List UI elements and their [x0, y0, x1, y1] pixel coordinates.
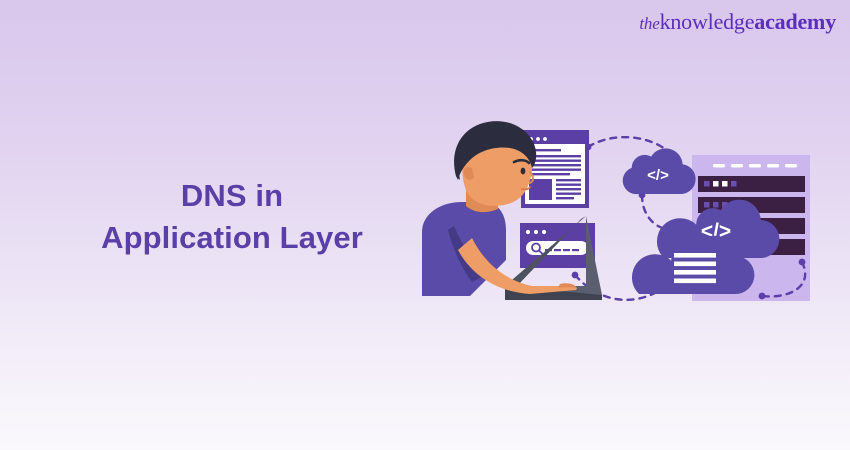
cloud-code-top: </> [623, 148, 696, 194]
page-title-line-2: Application Layer [52, 217, 412, 259]
search-window-dots [526, 230, 546, 234]
logo-text-knowledge: knowledge [660, 9, 755, 34]
cloud-code-glyph: </> [647, 167, 669, 184]
page-title-line-1: DNS in [52, 175, 412, 217]
server-slot [698, 176, 805, 192]
person-eye [521, 168, 526, 175]
page-title: DNS in Application Layer [52, 175, 412, 259]
banner-root: theknowledgeacademy DNS in Application L… [0, 0, 850, 450]
brand-logo: theknowledgeacademy [639, 9, 836, 35]
hero-illustration: </> </> [410, 110, 840, 340]
logo-text-the: the [639, 14, 659, 33]
logo-text-academy: academy [754, 9, 836, 34]
browser-window-search[interactable] [520, 223, 595, 268]
